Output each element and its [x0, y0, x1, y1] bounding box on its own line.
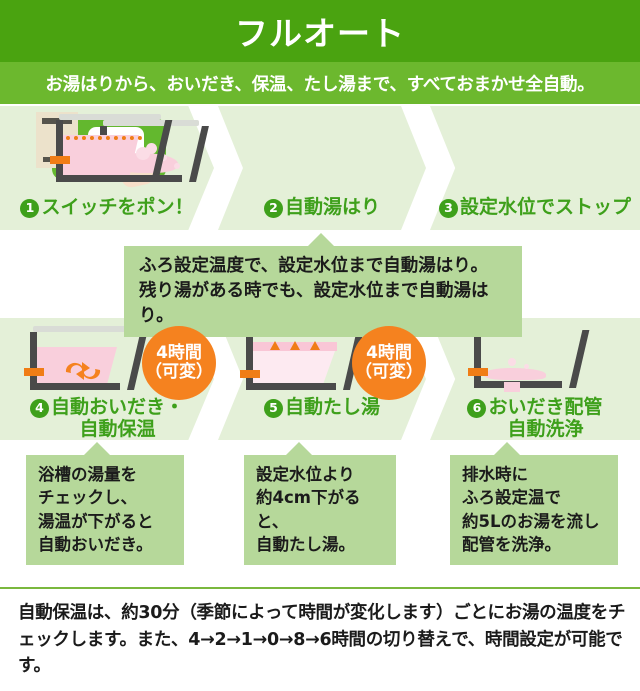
callout-step5-description: 設定水位より 約4cm下がると、 自動たし湯。: [244, 455, 396, 565]
illustration-set-level-stop: [56, 114, 158, 184]
bathtub-icon: [56, 114, 158, 182]
step-label-text-4-line2: 自動保温: [79, 418, 155, 440]
step-label-text-5: 自動たし湯: [285, 396, 380, 418]
step-label-text-3: 設定水位でストップ: [460, 196, 631, 218]
callout-tail: [84, 442, 110, 455]
callout-step6-description: 排水時に ふろ設定温で 約5Lのお湯を流し 配管を洗浄。: [450, 455, 618, 565]
step-label-text-4: 自動おいだき・ 自動保温: [51, 396, 184, 441]
callout-text: 排水時に ふろ設定温で 約5Lのお湯を流し 配管を洗浄。: [450, 455, 618, 565]
timer-badge-variable: （可変）: [145, 363, 213, 382]
timer-badge-step4: 4時間 （可変）: [142, 326, 216, 400]
step-label-text-1: スイッチをポン！: [41, 196, 193, 218]
step-label-6: 6 おいだき配管 自動洗浄: [430, 396, 640, 441]
step-number-badge-1: 1: [20, 199, 39, 218]
step-number-badge-6: 6: [467, 399, 486, 418]
set-water-level-line: [66, 136, 142, 140]
step-label-1: 1 スイッチをポン！: [0, 196, 214, 218]
callout-tail: [308, 233, 334, 246]
step-label-3: 3 設定水位でストップ: [430, 196, 640, 218]
step-label-text-4-line1: 自動おいだき・: [51, 396, 184, 418]
footer-note: 自動保温は、約30分（季節によって時間が変化します）ごとにお湯の温度をチェックし…: [18, 600, 626, 680]
rising-arrow-icon: [270, 341, 280, 350]
callout-text: ふろ設定温度で、設定水位まで自動湯はり。 残り湯がある時でも、設定水位まで自動湯…: [124, 246, 522, 337]
page-subtitle: お湯はりから、おいだき、保温、たし湯まで、すべておまかせ全自動。: [45, 71, 594, 96]
bathtub-icon: [30, 326, 134, 390]
step-number-badge-2: 2: [264, 199, 283, 218]
rising-arrow-icon: [310, 341, 320, 350]
step-label-text-6: おいだき配管 自動洗浄: [488, 396, 602, 441]
timer-badge-step5: 4時間 （可変）: [352, 326, 426, 400]
callout-tail: [286, 442, 312, 455]
bathtub-open-icon: [474, 330, 576, 388]
step-label-text-2: 自動湯はり: [285, 196, 380, 218]
header-title-bar: フルオート: [0, 0, 640, 62]
callout-text: 設定水位より 約4cm下がると、 自動たし湯。: [244, 455, 396, 565]
step-label-4: 4 自動おいだき・ 自動保温: [0, 396, 214, 441]
callout-step4-description: 浴槽の湯量を チェックし、 湯温が下がると 自動おいだき。: [26, 455, 184, 565]
bathtub-icon: [246, 328, 350, 390]
recirculation-arrows-icon: [60, 358, 106, 384]
step-number-badge-5: 5: [264, 399, 283, 418]
timer-badge-hours: 4時間: [366, 344, 412, 363]
callout-text: 浴槽の湯量を チェックし、 湯温が下がると 自動おいだき。: [26, 455, 184, 565]
step-number-badge-4: 4: [30, 399, 49, 418]
rising-arrow-icon: [290, 341, 300, 350]
step-label-text-6-line1: おいだき配管: [488, 396, 602, 418]
step-label-text-6-line2: 自動洗浄: [507, 418, 583, 440]
step-label-2: 2 自動湯はり: [218, 196, 426, 218]
timer-badge-hours: 4時間: [156, 344, 202, 363]
timer-badge-variable: （可変）: [355, 363, 423, 382]
page-title: フルオート: [235, 7, 405, 55]
illustration-auto-reheat: [30, 326, 134, 396]
callout-tail: [494, 442, 520, 455]
footer-divider: [0, 587, 640, 589]
full-auto-bath-infographic: フルオート お湯はりから、おいだき、保温、たし湯まで、すべておまかせ全自動。 自…: [0, 0, 640, 691]
drain-outflow: [504, 382, 520, 392]
step-number-badge-3: 3: [439, 199, 458, 218]
illustration-auto-refill: [246, 328, 350, 398]
header-subtitle-bar: お湯はりから、おいだき、保温、たし湯まで、すべておまかせ全自動。: [0, 62, 640, 104]
illustration-pipe-auto-clean: [474, 330, 576, 394]
callout-filling-description: ふろ設定温度で、設定水位まで自動湯はり。 残り湯がある時でも、設定水位まで自動湯…: [124, 246, 522, 337]
residual-water: [484, 368, 546, 380]
